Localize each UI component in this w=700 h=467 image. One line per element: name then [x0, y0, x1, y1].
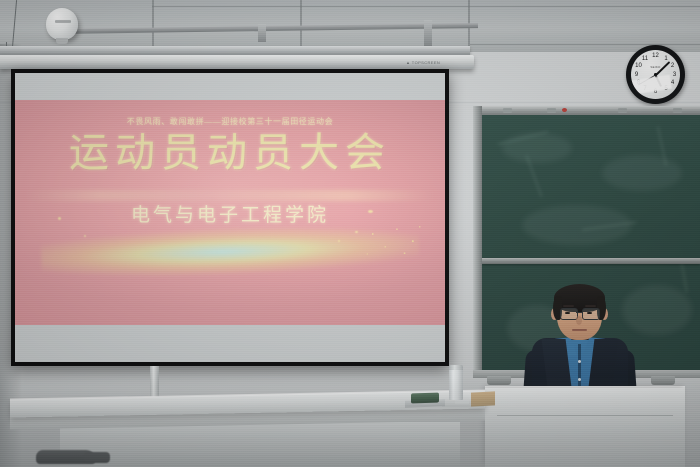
clock-numeral: 2 [669, 62, 677, 70]
slide-sparkle [355, 231, 358, 234]
clock-numeral: 10 [635, 62, 643, 70]
rail-bracket [424, 20, 432, 46]
board-clip [503, 108, 512, 113]
clock-brand-label: SEIKO [650, 65, 660, 69]
chalkboard-frame-left [473, 106, 482, 378]
chalkboard-panel-divider [482, 258, 700, 264]
wifi-access-point-icon [46, 8, 78, 40]
wall-seam [470, 44, 700, 45]
slide-sparkle [338, 240, 340, 242]
slide-sparkle [84, 235, 86, 237]
presentation-slide: 不畏风雨、敢闯敢拼——迎接校第三十一届田径运动会 运动员动员大会 电气与电子工程… [15, 100, 445, 325]
water-bottle-cap [449, 365, 463, 370]
rail-bracket [258, 24, 266, 42]
clock-numeral: 3 [671, 71, 679, 79]
glasses-lens-right [582, 308, 600, 320]
projector-screen-housing [0, 55, 474, 69]
chalk-streak [680, 259, 688, 293]
clock-numeral: 12 [652, 52, 660, 60]
slide-subtitle: 不畏风雨、敢闯敢拼——迎接校第三十一届田径运动会 [15, 116, 445, 127]
floor-shadow [0, 377, 700, 467]
eyebrow-left [563, 305, 574, 307]
screen-brand-label: ▲ TOPSCREEN [406, 60, 440, 65]
glasses-bridge [576, 312, 582, 313]
slide-title: 运动员动员大会 [15, 132, 445, 174]
clock-numeral: 9 [633, 71, 641, 79]
eyebrow-right [585, 305, 596, 307]
classroom-scene: ▲ TOPSCREEN 不畏风雨、敢闯敢拼——迎接校第三十一届田径运动会 运动员… [0, 0, 700, 467]
clock-center-pin [654, 73, 657, 76]
board-clip [618, 108, 627, 113]
clock-face: 12 1 2 3 4 5 6 7 8 9 10 11 SEIKO [631, 50, 680, 99]
chalk-smudge [602, 155, 682, 191]
board-magnet [562, 108, 567, 112]
ap-mount [56, 38, 68, 44]
ap-label [55, 20, 71, 23]
screen-surface: 不畏风雨、敢闯敢拼——迎接校第三十一届田径运动会 运动员动员大会 电气与电子工程… [15, 73, 445, 362]
shirt-button [578, 360, 581, 363]
chalk-smudge [502, 133, 572, 163]
slide-organization: 电气与电子工程学院 [15, 200, 445, 227]
wall-clock: 12 1 2 3 4 5 6 7 8 9 10 11 SEIKO [626, 45, 685, 104]
board-clip [547, 108, 556, 113]
wall-seam [152, 6, 700, 7]
board-clip [673, 108, 682, 113]
nose [576, 316, 582, 325]
slide-sparkle-cluster [359, 222, 428, 263]
projector-screen: 不畏风雨、敢闯敢拼——迎接校第三十一届田径运动会 运动员动员大会 电气与电子工程… [11, 69, 449, 366]
wall-seam [300, 0, 302, 48]
clock-numeral: 11 [641, 55, 649, 63]
wall-seam [152, 0, 154, 48]
